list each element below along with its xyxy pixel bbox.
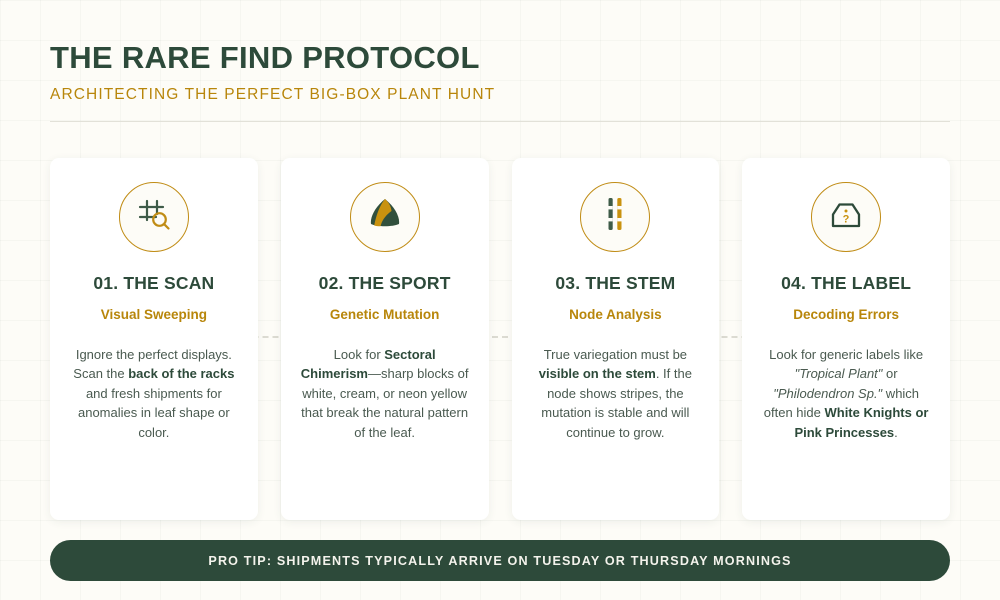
page-header: THE RARE FIND PROTOCOL ARCHITECTING THE …: [50, 0, 950, 122]
card-body: Ignore the perfect displays. Scan the ba…: [68, 345, 240, 443]
card-title: 04. THE LABEL: [781, 273, 911, 294]
icon-badge: [119, 182, 189, 252]
protocol-page: THE RARE FIND PROTOCOL ARCHITECTING THE …: [0, 0, 1000, 600]
card-the-stem[interactable]: 03. THE STEM Node Analysis True variegat…: [512, 158, 720, 520]
page-subtitle: ARCHITECTING THE PERFECT BIG-BOX PLANT H…: [50, 86, 950, 104]
grid-magnifier-icon: [134, 194, 174, 239]
card-body: True variegation must be visible on the …: [530, 345, 702, 443]
card-subtitle: Genetic Mutation: [330, 307, 440, 322]
variegated-leaf-icon: [365, 194, 405, 239]
card-title: 02. THE SPORT: [319, 273, 451, 294]
icon-badge: ?: [811, 182, 881, 252]
card-subtitle: Node Analysis: [569, 307, 662, 322]
page-title: THE RARE FIND PROTOCOL: [50, 40, 950, 76]
plant-tag-question-icon: ?: [826, 194, 866, 239]
striped-stems-icon: [595, 194, 635, 239]
card-body: Look for Sectoral Chimerism—sharp blocks…: [299, 345, 471, 443]
card-subtitle: Decoding Errors: [793, 307, 899, 322]
icon-badge: [350, 182, 420, 252]
card-the-label[interactable]: ? 04. THE LABEL Decoding Errors Look for…: [742, 158, 950, 520]
card-title: 01. THE SCAN: [93, 273, 214, 294]
svg-text:?: ?: [843, 214, 850, 226]
pro-tip-banner: PRO TIP: SHIPMENTS TYPICALLY ARRIVE ON T…: [50, 540, 950, 581]
icon-badge: [580, 182, 650, 252]
card-subtitle: Visual Sweeping: [101, 307, 207, 322]
card-grid: 01. THE SCAN Visual Sweeping Ignore the …: [50, 158, 950, 520]
pro-tip-text: PRO TIP: SHIPMENTS TYPICALLY ARRIVE ON T…: [208, 554, 791, 568]
card-title: 03. THE STEM: [555, 273, 675, 294]
header-divider: [50, 121, 950, 122]
card-body: Look for generic labels like "Tropical P…: [760, 345, 932, 443]
card-the-scan[interactable]: 01. THE SCAN Visual Sweeping Ignore the …: [50, 158, 258, 520]
card-the-sport[interactable]: 02. THE SPORT Genetic Mutation Look for …: [281, 158, 489, 520]
